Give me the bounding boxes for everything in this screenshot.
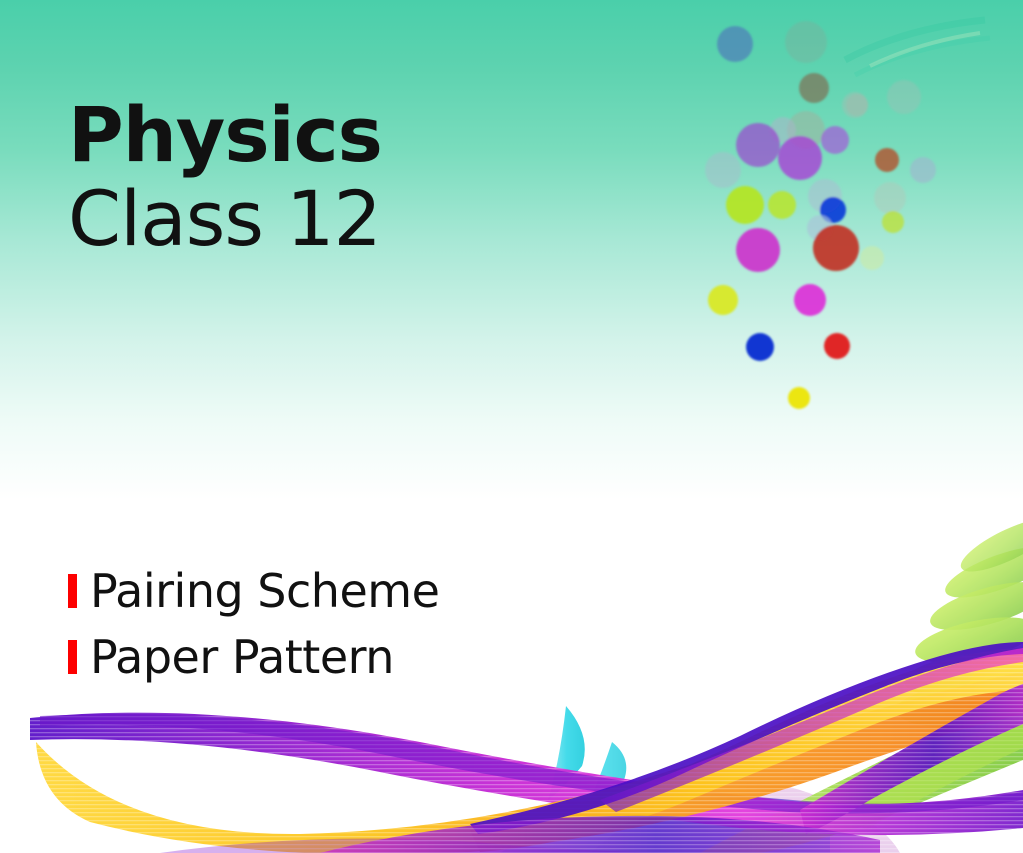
title-main-line: Physics: [68, 98, 382, 172]
list-item[interactable]: Pairing Scheme: [68, 558, 439, 624]
red-square-bullet-icon: [68, 574, 77, 608]
orange-yellow-ribbon: [36, 672, 1023, 853]
magenta-right-ribbon: [800, 684, 1023, 834]
list-item-label: Pairing Scheme: [90, 568, 439, 614]
orange-crest-ribbon: [470, 648, 1023, 852]
page-title: Physics Class 12: [68, 98, 382, 257]
cyan-ribbon: [500, 706, 830, 853]
green-ribbon: [700, 690, 1023, 853]
title-sub-line: Class 12: [68, 180, 382, 258]
list-item[interactable]: Paper Pattern: [68, 624, 439, 690]
list-item-label: Paper Pattern: [90, 634, 394, 680]
pink-mesh-ribbon: [590, 782, 900, 853]
yellow-orb: [969, 656, 1023, 724]
red-square-bullet-icon: [68, 640, 77, 674]
slide-canvas: Physics Class 12 Pairing Scheme Paper Pa…: [0, 0, 1023, 853]
purple-lower-sweep: [160, 816, 880, 853]
topic-list: Pairing Scheme Paper Pattern: [68, 558, 439, 690]
purple-magenta-ribbon: [30, 713, 1023, 835]
purple-edge-ribbon: [470, 642, 1023, 834]
green-helix-spiral: [895, 509, 1023, 732]
